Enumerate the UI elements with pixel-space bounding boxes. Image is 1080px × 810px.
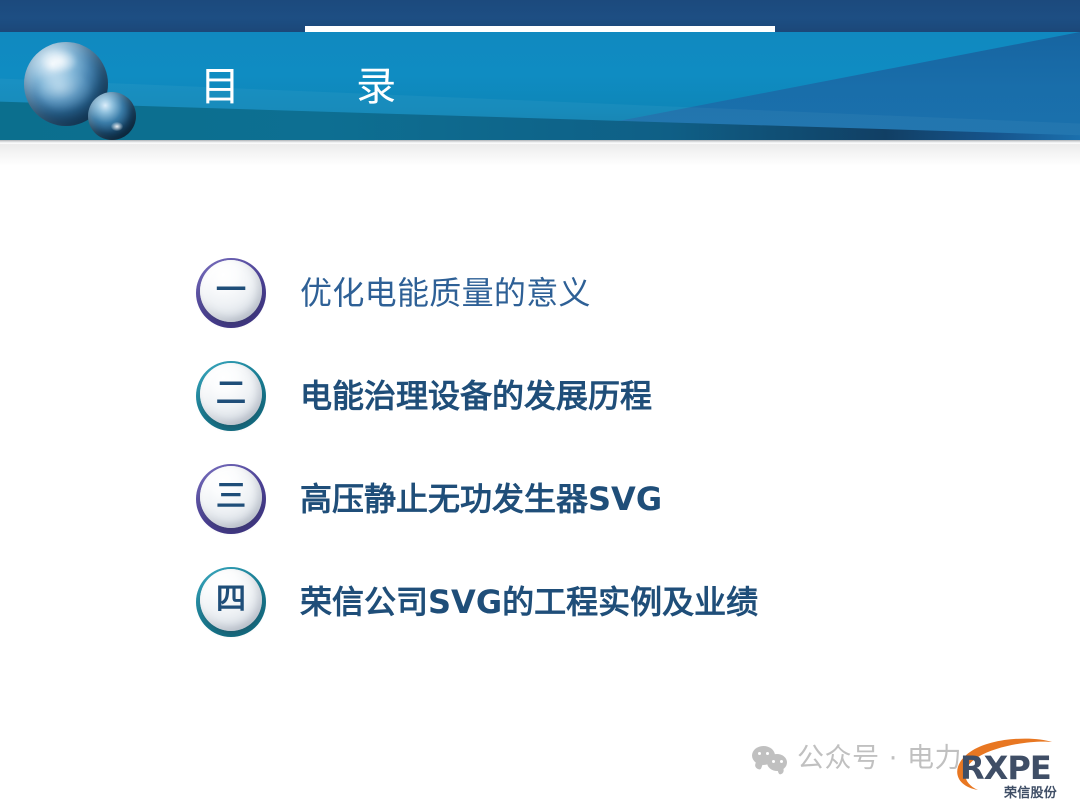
wechat-icon <box>752 744 788 774</box>
wechat-bubble-small <box>767 754 787 771</box>
toc-item-label-2: 电能治理设备的发展历程 <box>300 361 652 431</box>
toc-item-3[interactable]: 三 高压静止无功发生器SVG <box>0 464 1080 567</box>
header-underglow <box>0 144 1080 166</box>
page-title: 目 录 <box>200 62 398 112</box>
badge-ball-1: 一 <box>200 260 262 322</box>
toc-number-label-3: 三 <box>216 482 246 512</box>
badge-ball-2: 二 <box>200 363 262 425</box>
toc-number-label-2: 二 <box>216 379 246 409</box>
toc-number-badge-3: 三 <box>196 464 266 534</box>
watermark-label: 公众号 · 电力 <box>797 742 962 776</box>
toc-item-label-3: 高压静止无功发生器SVG <box>300 464 662 534</box>
wechat-dot-2 <box>766 752 769 755</box>
badge-ball-4: 四 <box>200 569 262 631</box>
toc-item-label-4: 荣信公司SVG的工程实例及业绩 <box>300 567 758 637</box>
logo-subtitle: 荣信股份 <box>1004 787 1057 800</box>
slide: 目 录 一 优化电能质量的意义 二 电能治理设备的发展历程 <box>0 0 1080 810</box>
small-sphere-icon <box>88 92 136 140</box>
toc-item-label-1: 优化电能质量的意义 <box>300 258 591 328</box>
toc-number-label-4: 四 <box>216 585 246 615</box>
toc-item-1[interactable]: 一 优化电能质量的意义 <box>0 258 1080 361</box>
toc-number-label-1: 一 <box>216 276 246 306</box>
wechat-dot-3 <box>772 760 775 763</box>
badge-ball-3: 三 <box>200 466 262 528</box>
large-sphere-highlight <box>42 50 76 72</box>
toc-number-badge-4: 四 <box>196 567 266 637</box>
wechat-dot-4 <box>780 760 783 763</box>
table-of-contents: 一 优化电能质量的意义 二 电能治理设备的发展历程 三 高压静止无功发生器SVG <box>0 258 1080 670</box>
toc-number-badge-1: 一 <box>196 258 266 328</box>
toc-item-4[interactable]: 四 荣信公司SVG的工程实例及业绩 <box>0 567 1080 670</box>
toc-item-2[interactable]: 二 电能治理设备的发展历程 <box>0 361 1080 464</box>
toc-number-badge-2: 二 <box>196 361 266 431</box>
slide-header: 目 录 <box>0 0 1080 143</box>
metallic-globe-spheres-icon <box>24 42 164 142</box>
rxpe-logo: RXPE 荣信股份 <box>948 736 1074 808</box>
wechat-dot-1 <box>758 752 761 755</box>
logo-wordmark: RXPE <box>960 752 1051 784</box>
wechat-watermark: 公众号 · 电力 <box>752 742 962 776</box>
